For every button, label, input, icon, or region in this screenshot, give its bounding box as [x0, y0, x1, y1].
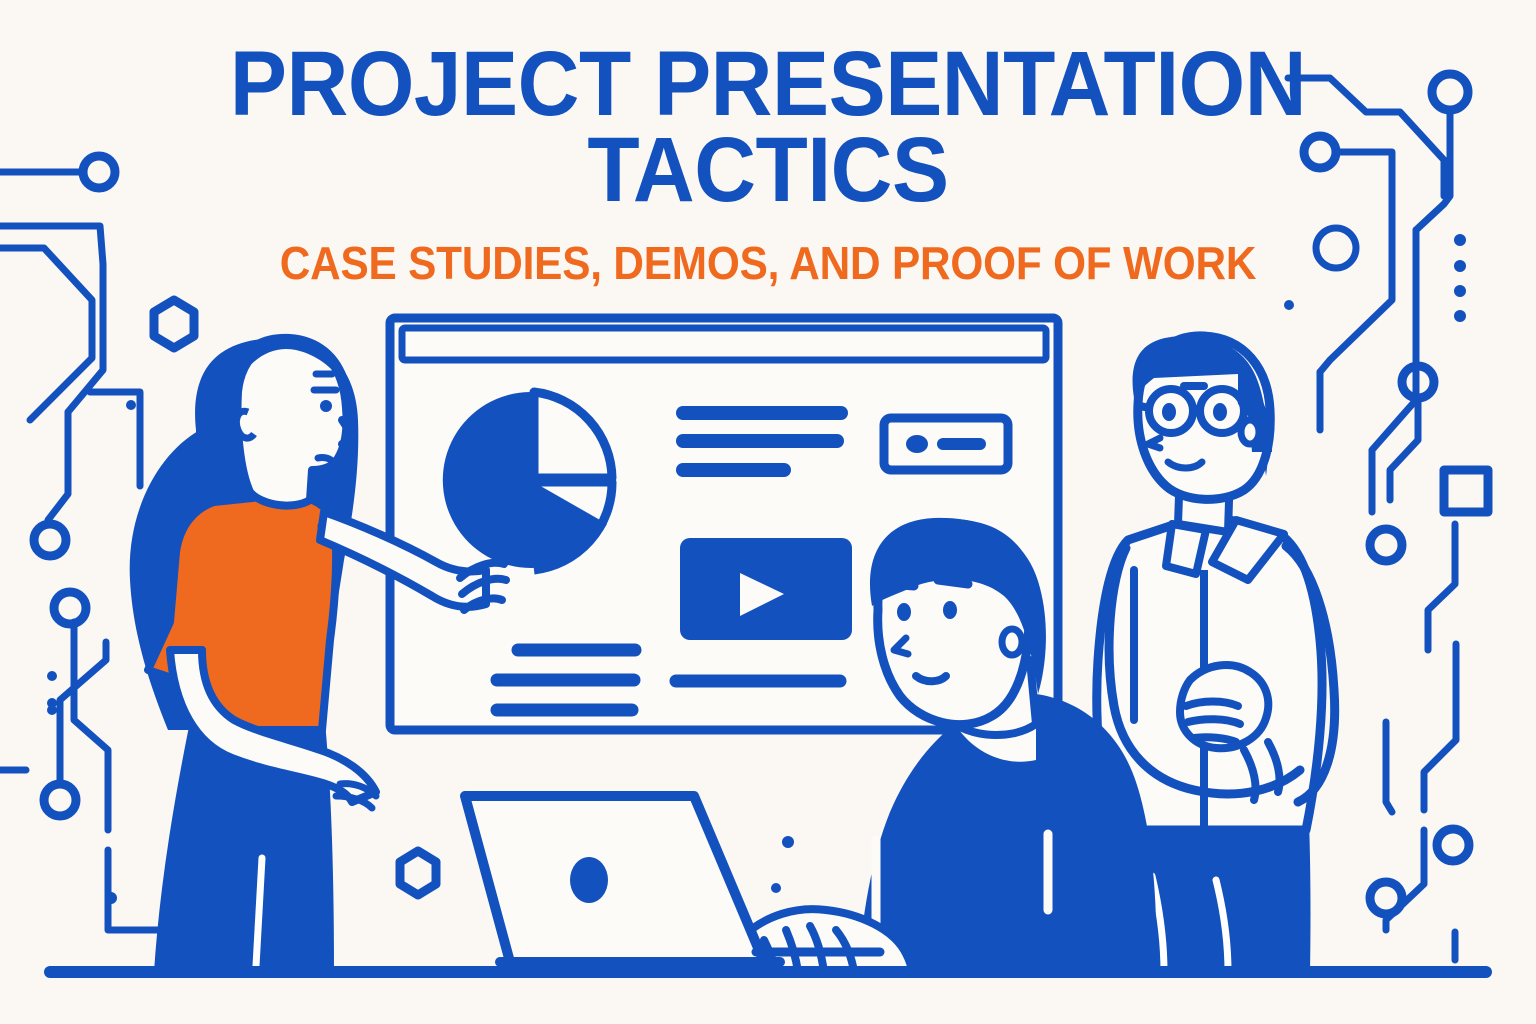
eye — [320, 400, 332, 412]
seated-man-laptop — [741, 518, 1156, 972]
laptop-logo-dot — [570, 857, 608, 903]
eye — [1162, 403, 1176, 421]
presenter-woman — [130, 334, 506, 972]
eye — [1213, 403, 1227, 421]
page-subtitle: CASE STUDIES, DEMOS, AND PROOF OF WORK — [61, 236, 1474, 290]
ear — [1241, 420, 1259, 444]
hand-on-chest — [1180, 665, 1268, 748]
ear — [1002, 629, 1022, 655]
eye — [897, 603, 911, 621]
laptop-screen — [465, 796, 764, 962]
dot — [782, 836, 794, 848]
eye — [943, 601, 957, 619]
eyebrow — [938, 580, 968, 584]
eyebrow — [890, 584, 914, 586]
poster-canvas: PROJECT PRESENTATION TACTICS CASE STUDIE… — [0, 0, 1536, 1024]
dot — [771, 883, 781, 893]
page-title: PROJECT PRESENTATION TACTICS — [54, 42, 1482, 213]
desk-baseline — [44, 966, 1492, 978]
